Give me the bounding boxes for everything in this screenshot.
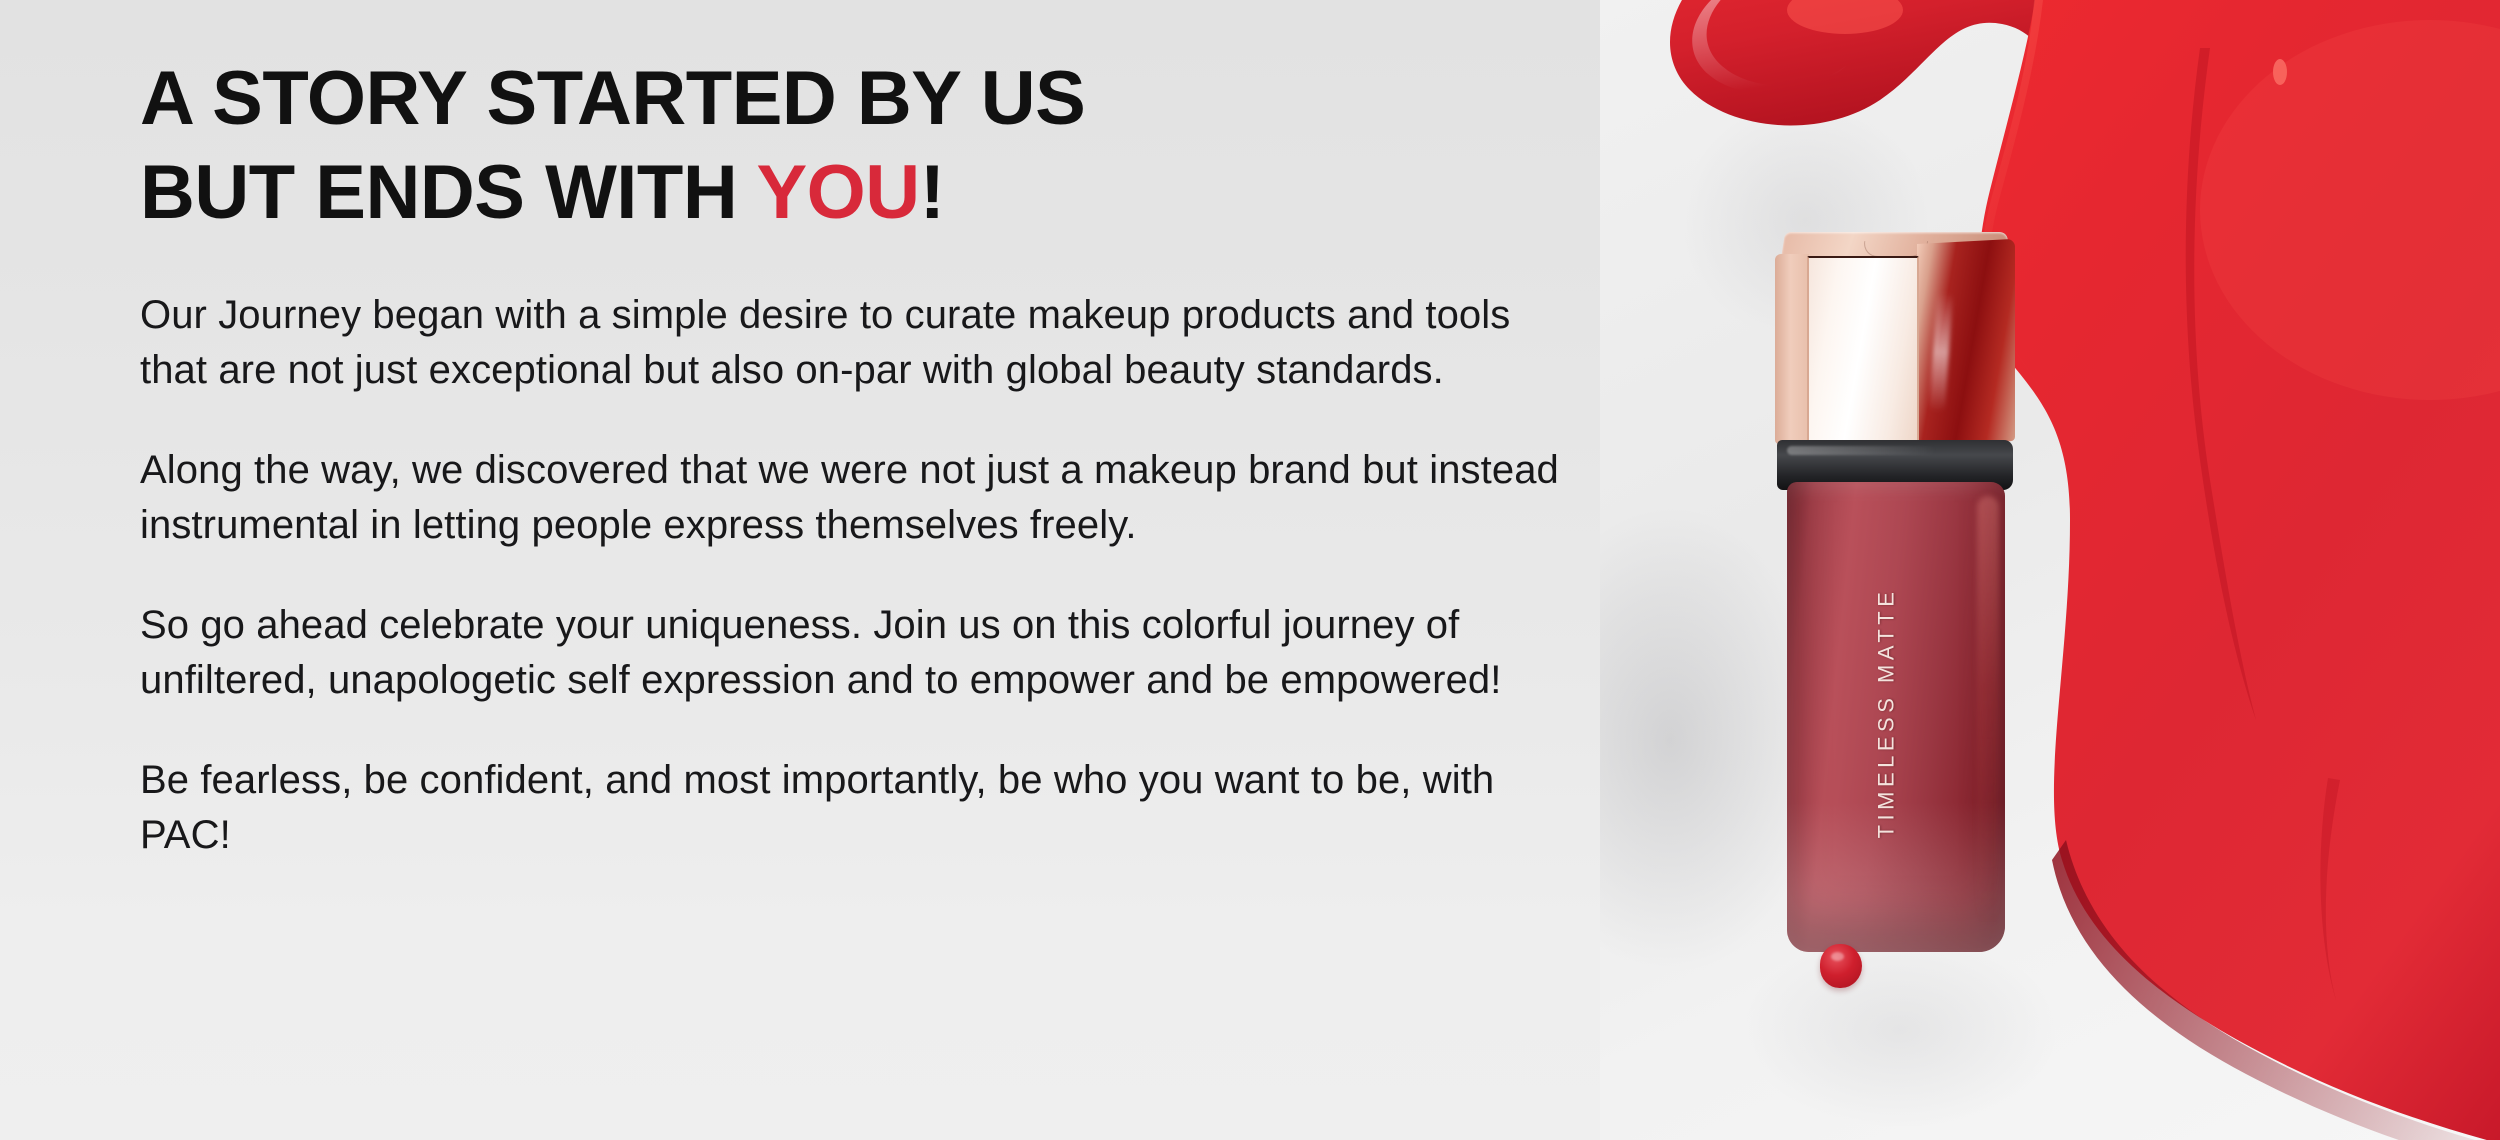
paragraph-closing: Be fearless, be confident, and most impo… <box>140 753 1560 863</box>
headline-accent-you: YOU <box>756 150 919 235</box>
cap-front-facet <box>1807 256 1919 444</box>
headline-line-2-prefix: BUT ENDS WITH <box>140 150 756 235</box>
product-photo: TIMELESS MATTE <box>1600 0 2500 1140</box>
paragraph-discovery: Along the way, we discovered that we wer… <box>140 443 1560 553</box>
cap-left-facet <box>1775 254 1809 444</box>
bottle-body-highlight <box>1977 496 1999 926</box>
bottle-cap <box>1775 232 2015 462</box>
brand-story-banner: A STORY STARTED BY US BUT ENDS WITH YOU!… <box>0 0 2500 1140</box>
cap-right-facet <box>1917 239 2015 446</box>
headline-line-2: BUT ENDS WITH YOU! <box>140 146 1085 240</box>
page-title: A STORY STARTED BY US BUT ENDS WITH YOU! <box>140 52 1085 240</box>
paragraph-invitation: So go ahead celebrate your uniqueness. J… <box>140 598 1560 708</box>
bottle-body <box>1787 482 2005 952</box>
lipstick-bottle: TIMELESS MATTE <box>1775 232 2015 974</box>
bottle-body-frost <box>1787 802 2005 952</box>
paragraph-origin: Our Journey began with a simple desire t… <box>140 288 1560 398</box>
headline-line-1: A STORY STARTED BY US <box>140 52 1085 146</box>
headline-exclamation: ! <box>920 150 945 235</box>
copy-column: A STORY STARTED BY US BUT ENDS WITH YOU!… <box>140 0 1570 1140</box>
collar-highlight <box>1787 446 1937 455</box>
liquid-droplet <box>1820 944 1862 988</box>
body-copy: Our Journey began with a simple desire t… <box>140 288 1560 863</box>
